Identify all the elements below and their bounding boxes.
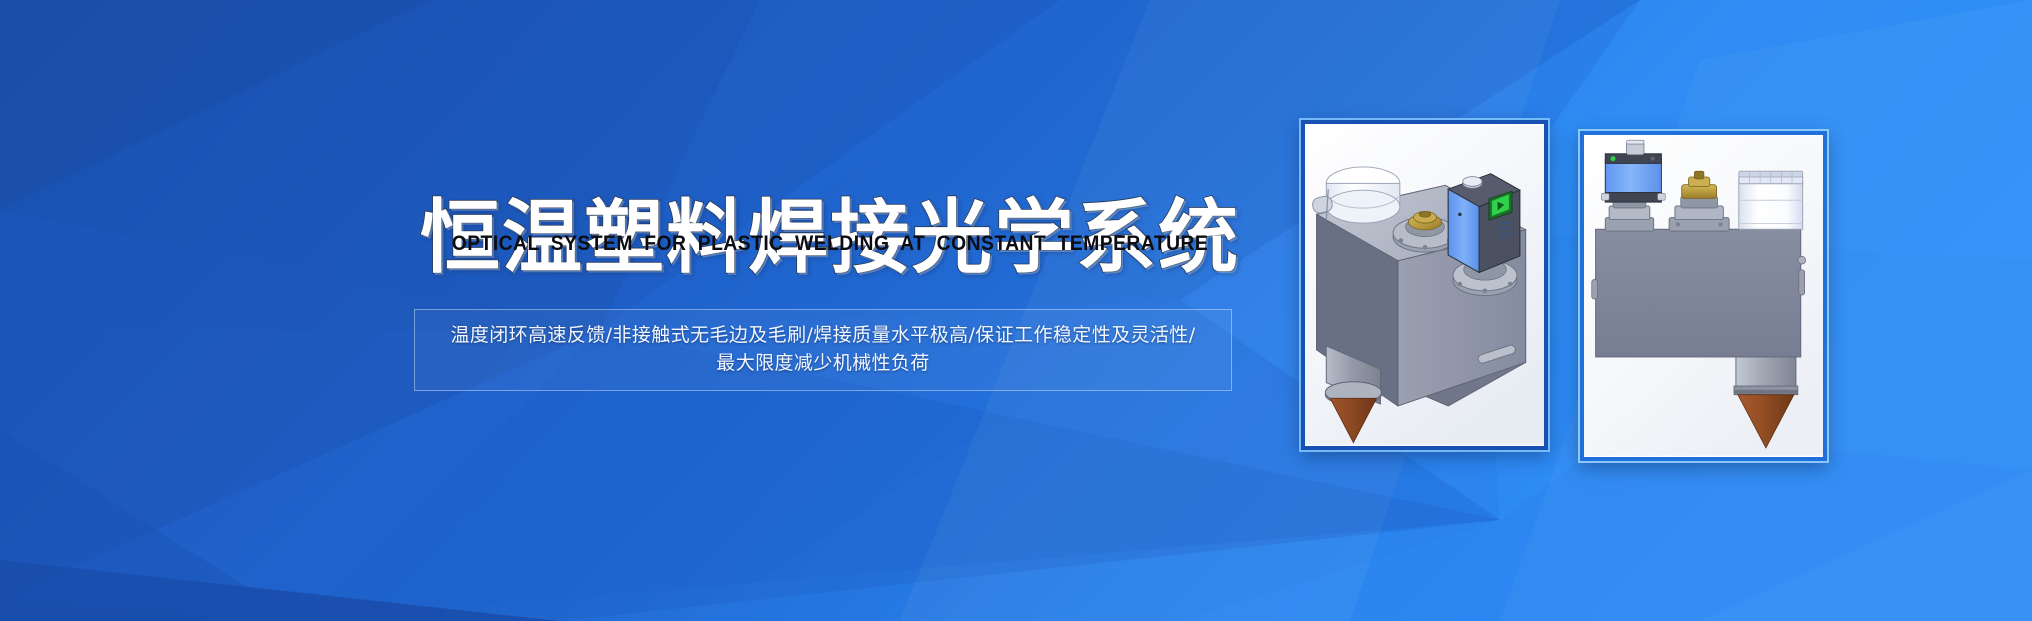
product-image-card-front[interactable] — [1580, 131, 1827, 461]
product-render-front — [1584, 135, 1823, 457]
product-render-isometric — [1305, 124, 1544, 446]
product-banner: 恒温塑料焊接光学系统 OPTICAL SYSTEM FOR PLASTIC WE… — [0, 0, 2032, 621]
product-image-card-isometric[interactable] — [1301, 120, 1548, 450]
